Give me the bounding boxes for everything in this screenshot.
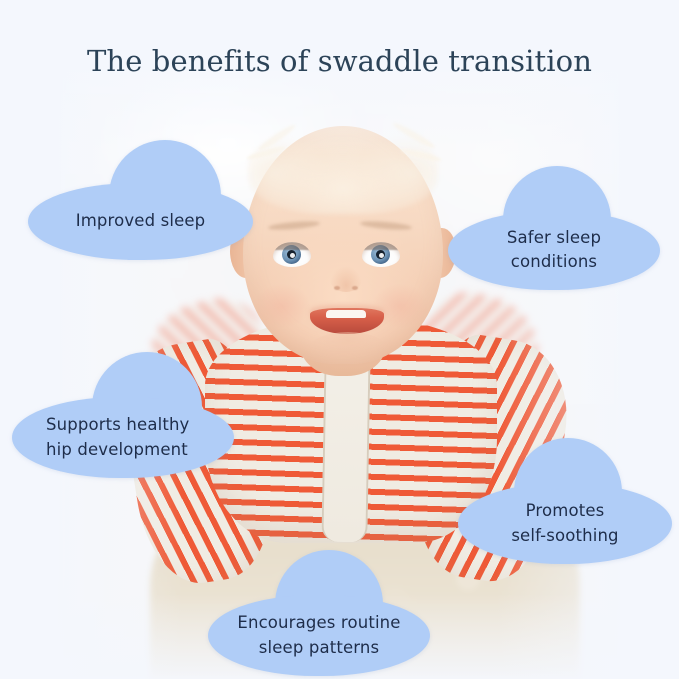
benefit-label-safer-sleep: Safer sleep conditions <box>448 211 660 290</box>
benefit-label-improved-sleep: Improved sleep <box>28 183 253 260</box>
benefit-line: Supports healthy <box>46 413 189 438</box>
benefit-cloud-improved-sleep: Improved sleep <box>28 140 253 260</box>
infographic-canvas: The benefits of swaddle transition Impro… <box>0 0 679 679</box>
benefit-line: self-soothing <box>511 524 618 549</box>
page-title: The benefits of swaddle transition <box>0 44 679 78</box>
benefit-line: Improved sleep <box>76 209 206 234</box>
benefit-cloud-hip-development: Supports healthy hip development <box>12 352 234 478</box>
benefit-line: Promotes <box>526 499 605 524</box>
benefit-label-self-soothing: Promotes self-soothing <box>458 483 672 564</box>
benefit-line: sleep patterns <box>259 636 380 661</box>
benefit-line: hip development <box>46 438 188 463</box>
benefit-line: Encourages routine <box>237 611 400 636</box>
benefit-label-sleep-patterns: Encourages routine sleep patterns <box>208 595 430 676</box>
benefit-label-hip-development: Supports healthy hip development <box>12 397 234 478</box>
benefit-cloud-self-soothing: Promotes self-soothing <box>458 438 672 564</box>
benefit-line: conditions <box>511 250 597 275</box>
benefit-line: Safer sleep <box>507 226 601 251</box>
benefit-cloud-safer-sleep: Safer sleep conditions <box>448 166 660 290</box>
benefit-cloud-sleep-patterns: Encourages routine sleep patterns <box>208 550 430 676</box>
